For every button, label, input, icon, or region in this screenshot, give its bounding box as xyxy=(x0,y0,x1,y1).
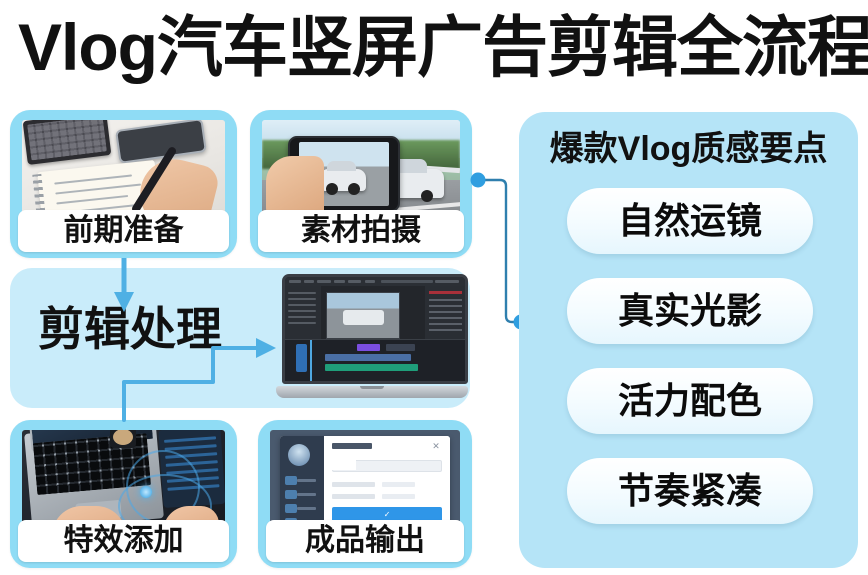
avatar xyxy=(288,444,310,466)
step-card-prep[interactable]: 前期准备 xyxy=(10,110,237,258)
step-card-shoot[interactable]: 素材拍摄 xyxy=(250,110,472,258)
infographic-canvas: Vlog汽车竖屏广告剪辑全流程 前期准备 xyxy=(0,0,868,575)
cup-icon xyxy=(110,430,136,448)
tip-label-2: 真实光影 xyxy=(618,293,762,329)
step-card-effects[interactable]: 特效添加 xyxy=(10,420,237,568)
editor-media-panel xyxy=(285,286,321,339)
tip-pill-3[interactable]: 活力配色 xyxy=(567,368,813,434)
step-label-box-shoot: 素材拍摄 xyxy=(258,210,464,252)
step-label-box-effects: 特效添加 xyxy=(18,520,229,562)
tip-pill-2[interactable]: 真实光影 xyxy=(567,278,813,344)
close-icon[interactable]: ✕ xyxy=(432,442,441,451)
tips-panel: 爆款Vlog质感要点 自然运镜 真实光影 活力配色 节奏紧凑 xyxy=(519,112,858,568)
step-card-edit[interactable]: 剪辑处理 xyxy=(10,268,470,408)
connector-shoot-to-tips xyxy=(479,180,520,322)
step-label-prep: 前期准备 xyxy=(64,216,184,246)
editor-inspector-panel xyxy=(425,286,465,339)
editor-timeline xyxy=(285,339,465,381)
step-label-edit: 剪辑处理 xyxy=(38,306,222,352)
phone-icon xyxy=(115,120,207,164)
tip-label-1: 自然运镜 xyxy=(618,203,762,239)
step-card-export[interactable]: ✕ ✓ 成品输出 xyxy=(258,420,472,568)
tip-label-4: 节奏紧凑 xyxy=(618,473,762,509)
page-title: Vlog汽车竖屏广告剪辑全流程 xyxy=(18,6,858,88)
connector-node-start xyxy=(471,173,486,188)
tip-pill-4[interactable]: 节奏紧凑 xyxy=(567,458,813,524)
editor-preview-monitor xyxy=(326,292,400,340)
tip-label-3: 活力配色 xyxy=(618,383,762,419)
dialog-input-field[interactable] xyxy=(332,460,443,472)
step-label-shoot: 素材拍摄 xyxy=(301,216,421,246)
glow-dot-icon xyxy=(140,486,152,498)
keyboard-icon xyxy=(23,120,112,165)
step-label-box-prep: 前期准备 xyxy=(18,210,229,252)
dialog-title xyxy=(332,443,372,449)
editor-toolbar xyxy=(285,277,465,286)
edit-illustration xyxy=(276,274,468,398)
tips-panel-heading: 爆款Vlog质感要点 xyxy=(519,132,858,166)
tip-pill-1[interactable]: 自然运镜 xyxy=(567,188,813,254)
step-label-export: 成品输出 xyxy=(305,526,425,556)
step-label-box-export: 成品输出 xyxy=(266,520,464,562)
step-label-effects: 特效添加 xyxy=(64,526,184,556)
